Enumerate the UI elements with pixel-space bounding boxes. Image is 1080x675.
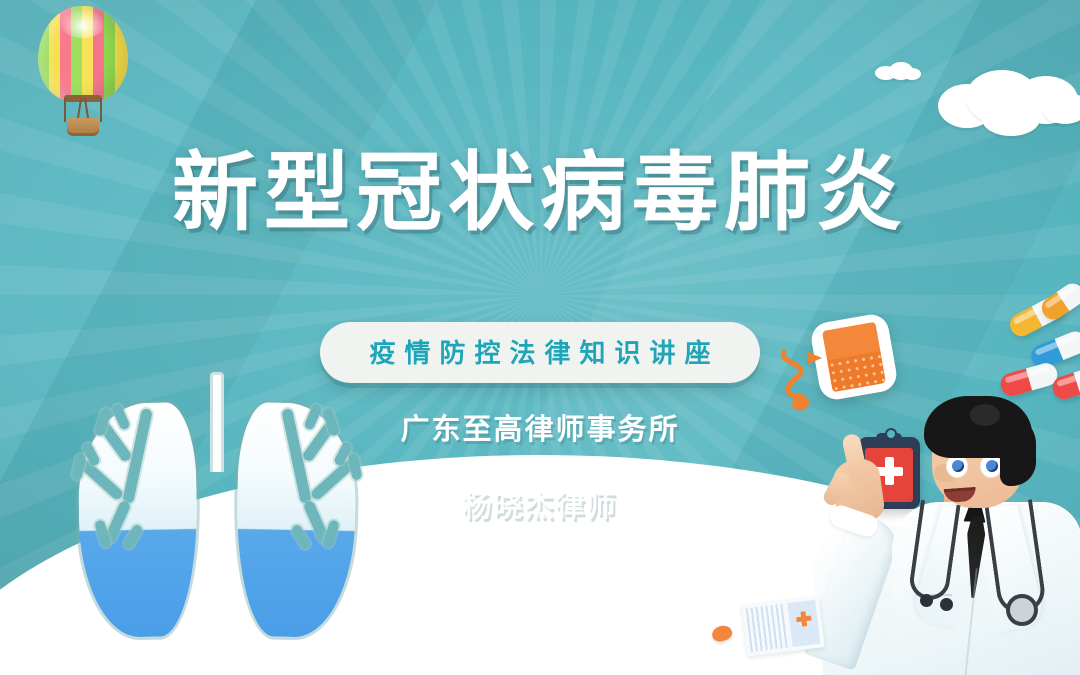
medical-book-icon: [741, 595, 825, 656]
subtitle-text: 疫情防控法律知识讲座: [320, 322, 759, 383]
organization-name: 广东至高律师事务所: [0, 406, 1080, 448]
cloud-large-icon: [938, 70, 1080, 132]
hot-air-balloon-icon: [30, 6, 136, 134]
presentation-slide: 新型冠状病毒肺炎 疫情防控法律知识讲座 广东至高律师事务所 杨晓杰律师: [0, 0, 1080, 675]
doctor-pupil-right: [986, 460, 998, 472]
stethoscope-chestpiece: [1006, 594, 1038, 626]
stethoscope-earpiece-2: [940, 598, 953, 611]
subtitle-banner: 疫情防控法律知识讲座: [0, 322, 1080, 383]
doctor-pupil-left: [952, 460, 964, 472]
page-title: 新型冠状病毒肺炎: [0, 150, 1080, 236]
speaker-name: 杨晓杰律师: [0, 483, 1080, 525]
cloud-small-icon: [875, 62, 921, 80]
stethoscope-earpiece-1: [920, 594, 933, 607]
